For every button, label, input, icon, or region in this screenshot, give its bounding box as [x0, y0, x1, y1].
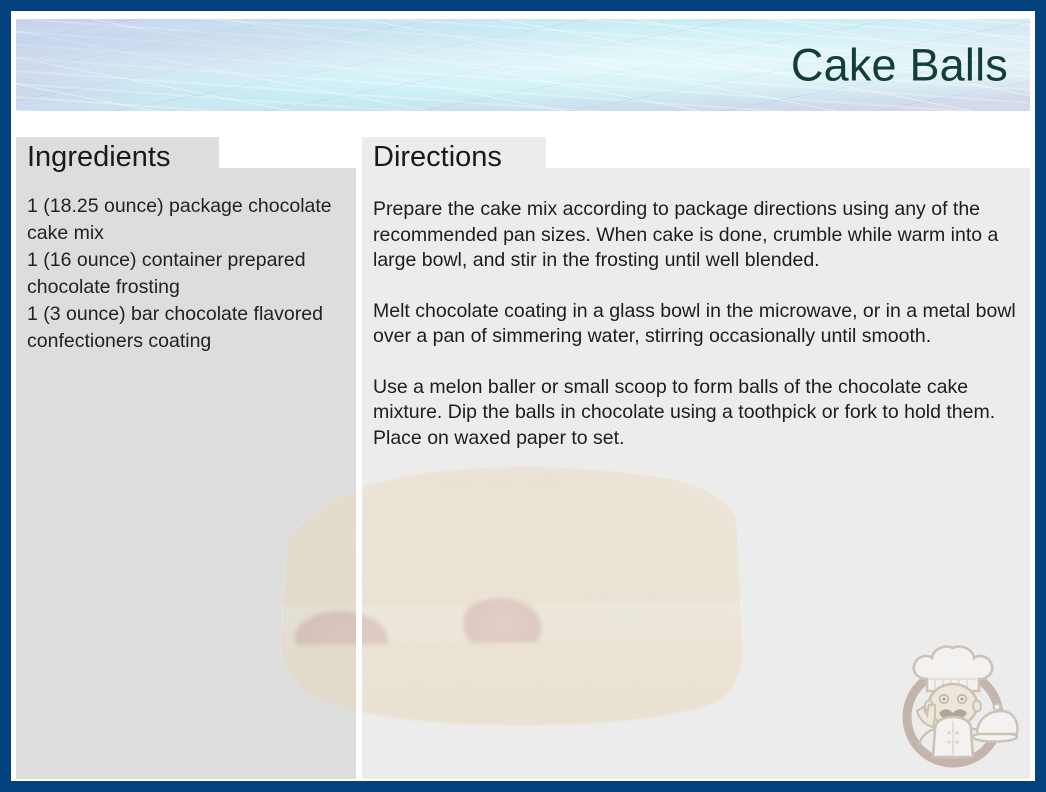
direction-step: Prepare the cake mix according to packag…	[373, 197, 1018, 274]
directions-heading: Directions	[373, 143, 502, 172]
recipe-card: Cake Balls	[0, 0, 1046, 792]
ingredients-list: 1 (18.25 ounce) package chocolate cake m…	[27, 193, 357, 355]
ingredient-item: 1 (16 ounce) container prepared chocolat…	[27, 247, 357, 301]
ingredients-heading: Ingredients	[27, 143, 171, 172]
page-title: Cake Balls	[791, 43, 1008, 88]
directions-list: Prepare the cake mix according to packag…	[373, 197, 1018, 451]
tab-directions[interactable]: Directions	[362, 137, 546, 178]
direction-step: Melt chocolate coating in a glass bowl i…	[373, 299, 1018, 350]
title-banner: Cake Balls	[16, 19, 1030, 111]
ingredient-item: 1 (3 ounce) bar chocolate flavored confe…	[27, 301, 357, 355]
direction-step: Use a melon baller or small scoop to for…	[373, 375, 1018, 452]
tab-ingredients[interactable]: Ingredients	[16, 137, 219, 178]
ingredient-item: 1 (18.25 ounce) package chocolate cake m…	[27, 193, 357, 247]
recipe-card-inner: Cake Balls	[11, 11, 1035, 781]
